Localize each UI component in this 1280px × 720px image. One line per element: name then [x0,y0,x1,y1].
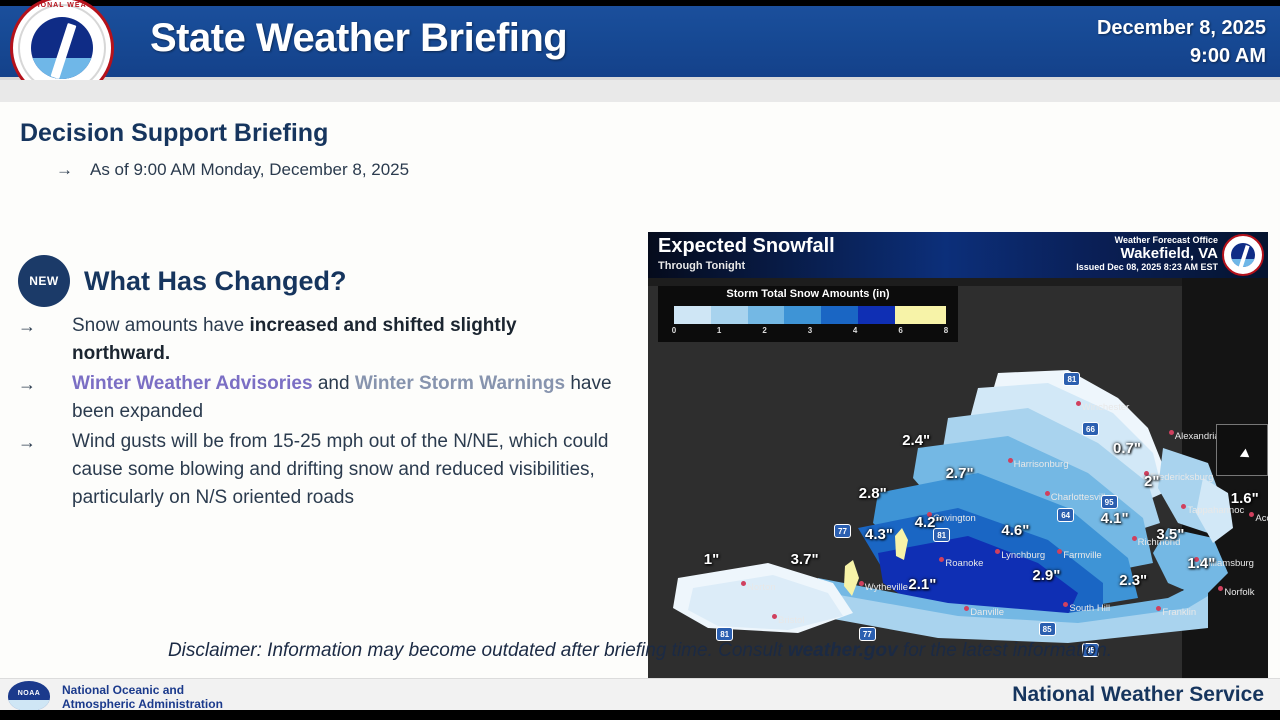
city-label: Lynchburg [1001,550,1045,561]
bullet-span: Winter Weather Advisories [72,373,313,394]
city-marker-dot [1181,504,1186,509]
as-of-row: → As of 9:00 AM Monday, December 8, 2025 [20,158,630,182]
colorbar-swatch [784,306,821,324]
colorbar-legend: Storm Total Snow Amounts (in) 0123468 [658,286,958,342]
colorbar-tick-label: 4 [853,326,857,335]
colorbar [674,306,946,324]
arrow-bullet-icon: → [56,158,90,182]
snowfall-value-label: 3.5" [1156,526,1184,543]
city-marker-dot [1169,430,1174,435]
noaa-line-2: Atmospheric Administration [62,697,223,711]
colorbar-tick-label: 1 [717,326,721,335]
disclaimer-link: weather.gov [788,640,898,661]
interstate-shield-icon: 77 [859,627,876,641]
interstate-shield-icon: 77 [834,524,851,538]
city-marker-dot [1057,549,1062,554]
colorbar-tick-label: 0 [672,326,676,335]
noaa-logo-word: NOAA [8,690,50,697]
bottom-letterbox [0,710,1280,720]
header-bar: State Weather Briefing December 8, 2025 … [0,6,1280,80]
what-has-changed-header: NEW What Has Changed? [18,255,347,307]
colorbar-swatch [674,306,711,324]
colorbar-swatch [895,306,946,324]
city-label: Roanoke [945,558,983,569]
section-heading-decision-support: Decision Support Briefing [20,118,630,148]
legend-title: Storm Total Snow Amounts (in) [658,288,958,300]
bullet-span: and [313,373,355,394]
nws-roundel-icon [1222,234,1264,276]
logo-text-top: NATIONAL WEATHER [13,2,114,9]
bullet-text: Wind gusts will be from 15-25 mph out of… [72,428,618,512]
snowfall-value-label: 4.6" [1001,522,1029,539]
map-title: Expected Snowfall [658,235,835,258]
city-label: Alexandria [1175,431,1220,442]
snowfall-value-label: 4.1" [1101,510,1129,527]
snowfall-value-label: 1.6" [1231,490,1259,507]
snowfall-value-label: 2.8" [859,485,887,502]
colorbar-tick-label: 6 [898,326,902,335]
city-marker-dot [1045,491,1050,496]
snowfall-value-label: 2.1" [908,576,936,593]
city-marker-dot [1132,536,1137,541]
snowfall-value-label: 1" [704,551,719,568]
section-heading-what-has-changed: What Has Changed? [84,266,347,297]
snowfall-value-label: 3.7" [791,551,819,568]
map-header-bar: Expected Snowfall Through Tonight Weathe… [648,232,1268,278]
bullet-span: Winter Storm Warnings [355,373,565,394]
colorbar-ticks: 0123468 [674,326,946,340]
noaa-logo-icon: NOAA [8,681,50,711]
noaa-line-1: National Oceanic and [62,683,223,697]
header-date-block: December 8, 2025 9:00 AM [1097,14,1266,70]
interstate-shield-icon: 95 [1101,495,1118,509]
snowfall-value-label: 2.9" [1032,567,1060,584]
city-marker-dot [1218,586,1223,591]
briefing-slide: State Weather Briefing December 8, 2025 … [0,0,1280,720]
city-label: Harrisonburg [1014,459,1069,470]
as-of-text: As of 9:00 AM Monday, December 8, 2025 [90,158,409,182]
gray-divider-strip [0,80,1280,102]
city-label: Accomac [1255,513,1268,524]
interstate-shield-icon: 81 [1063,372,1080,386]
cursor-highlight-box [1216,424,1268,476]
snowfall-value-label: 2" [1144,473,1159,490]
colorbar-tick-label: 8 [944,326,948,335]
header-time: 9:00 AM [1097,42,1266,70]
city-label: Bristol [778,615,804,626]
arrow-bullet-icon: → [18,312,72,340]
footer-bar: NOAA National Oceanic and Atmospheric Ad… [0,678,1280,710]
wfo-label: Weather Forecast Office [1076,235,1218,245]
snowfall-map-panel[interactable]: Expected Snowfall Through Tonight Weathe… [648,232,1268,710]
interstate-shield-icon: 81 [933,528,950,542]
map-canvas[interactable]: Storm Total Snow Amounts (in) 0123468 Wi… [648,278,1268,688]
wfo-block: Weather Forecast Office Wakefield, VA Is… [1076,235,1218,272]
map-issued-time: Issued Dec 08, 2025 8:23 AM EST [1076,262,1218,272]
arrow-bullet-icon: → [18,428,72,456]
snowfall-value-label: 4.3" [865,526,893,543]
city-label: Norton [747,582,776,593]
colorbar-swatch [748,306,785,324]
map-subtitle: Through Tonight [658,260,745,272]
colorbar-tick-label: 3 [808,326,812,335]
disclaimer-pre: Disclaimer: Information may become outda… [168,640,788,661]
city-label: Farmville [1063,550,1102,561]
city-marker-dot [995,549,1000,554]
colorbar-swatch [821,306,858,324]
city-label: Danville [970,607,1004,618]
disclaimer-post: for the latest information. [898,640,1112,661]
snowfall-value-label: 2.7" [946,465,974,482]
slide-body: Decision Support Briefing → As of 9:00 A… [0,80,1280,680]
city-label: Wytheville [865,582,908,593]
page-title: State Weather Briefing [150,16,567,61]
footer-nws-label: National Weather Service [1012,683,1264,707]
city-label: Winchester [1082,402,1130,413]
noaa-agency-name: National Oceanic and Atmospheric Adminis… [62,683,223,711]
bullet-item: →Wind gusts will be from 15-25 mph out o… [18,428,618,512]
city-marker-dot [1076,401,1081,406]
interstate-shield-icon: 66 [1082,422,1099,436]
bullet-span: Wind gusts will be from 15-25 mph out of… [72,431,608,508]
arrow-bullet-icon: → [18,370,72,398]
interstate-shield-icon: 85 [1039,622,1056,636]
colorbar-swatch [711,306,748,324]
bullet-text: Snow amounts have increased and shifted … [72,312,618,368]
city-label: Franklin [1162,607,1196,618]
wfo-name: Wakefield, VA [1076,245,1218,262]
snowfall-value-label: 2.3" [1119,572,1147,589]
interstate-shield-icon: 81 [716,627,733,641]
city-label: South Hill [1069,603,1110,614]
left-content-column: Decision Support Briefing → As of 9:00 A… [20,118,630,182]
bullet-item: →Winter Weather Advisories and Winter St… [18,370,618,426]
snowfall-value-label: 2.4" [902,432,930,449]
snowfall-value-label: 0.7" [1113,440,1141,457]
city-label: Fredericksburg [1150,472,1213,483]
bullet-item: →Snow amounts have increased and shifted… [18,312,618,368]
bullet-text: Winter Weather Advisories and Winter Sto… [72,370,618,426]
interstate-shield-icon: 64 [1057,508,1074,522]
changes-bullet-list: →Snow amounts have increased and shifted… [18,312,618,514]
snowfall-value-label: 1.4" [1187,555,1215,572]
bullet-span: Snow amounts have [72,315,249,336]
colorbar-tick-label: 2 [762,326,766,335]
city-label: Norfolk [1224,587,1254,598]
colorbar-swatch [858,306,895,324]
disclaimer-text: Disclaimer: Information may become outda… [0,640,1280,662]
header-date: December 8, 2025 [1097,14,1266,42]
new-badge: NEW [18,255,70,307]
